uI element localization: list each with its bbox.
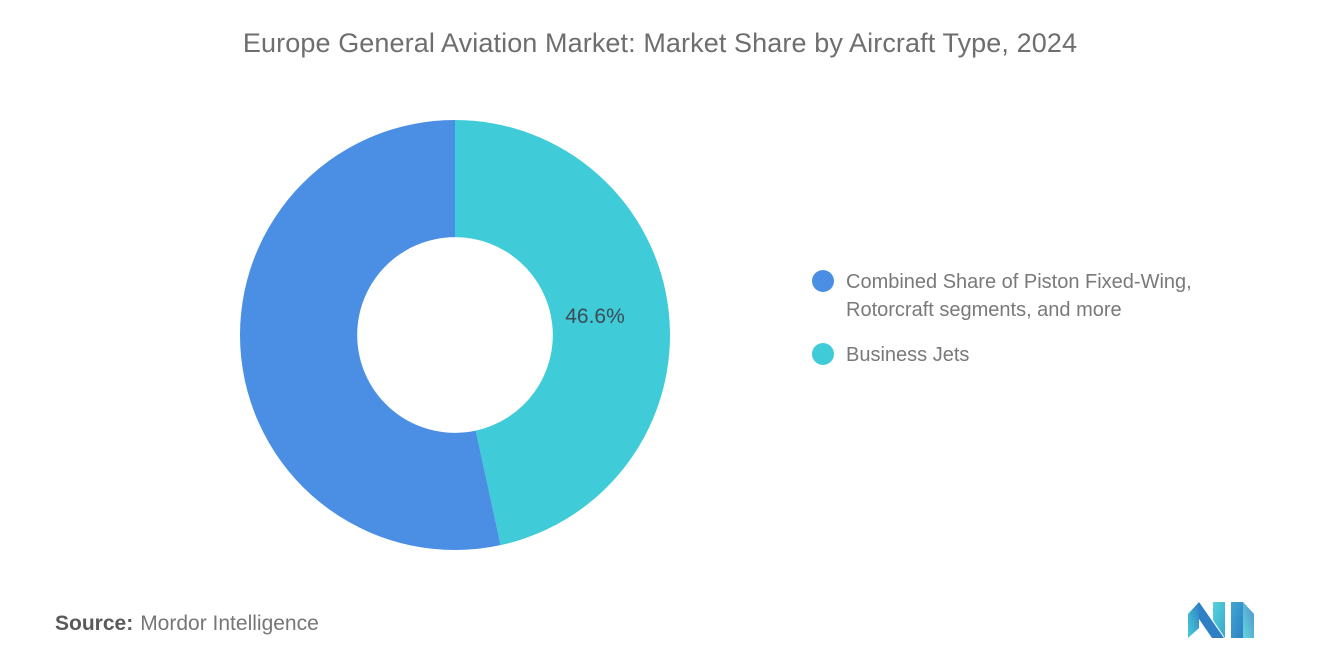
source-label: Source: [55,612,133,635]
legend-swatch-icon-business-jets [812,343,834,365]
donut-data-label-business-jets: 46.6% [555,305,635,329]
source-value: Mordor Intelligence [140,612,319,635]
legend-label-business-jets: Business Jets [846,341,969,369]
source-line: Source:Mordor Intelligence [55,612,319,636]
legend-label-combined-share: Combined Share of Piston Fixed-Wing, Rot… [846,268,1256,324]
donut-chart-svg [240,120,670,550]
page-title: Europe General Aviation Market: Market S… [0,28,1320,59]
legend-swatch-icon-combined-share [812,270,834,292]
legend-item-business-jets[interactable]: Business Jets [812,341,1282,369]
donut-slice[interactable] [455,120,670,545]
mordor-intelligence-logo-icon [1186,600,1256,640]
chart-page: Europe General Aviation Market: Market S… [0,0,1320,665]
donut-slice-group [240,120,670,550]
legend-item-combined-share[interactable]: Combined Share of Piston Fixed-Wing, Rot… [812,268,1282,324]
chart-legend: Combined Share of Piston Fixed-Wing, Rot… [812,268,1282,386]
donut-chart [240,120,670,550]
